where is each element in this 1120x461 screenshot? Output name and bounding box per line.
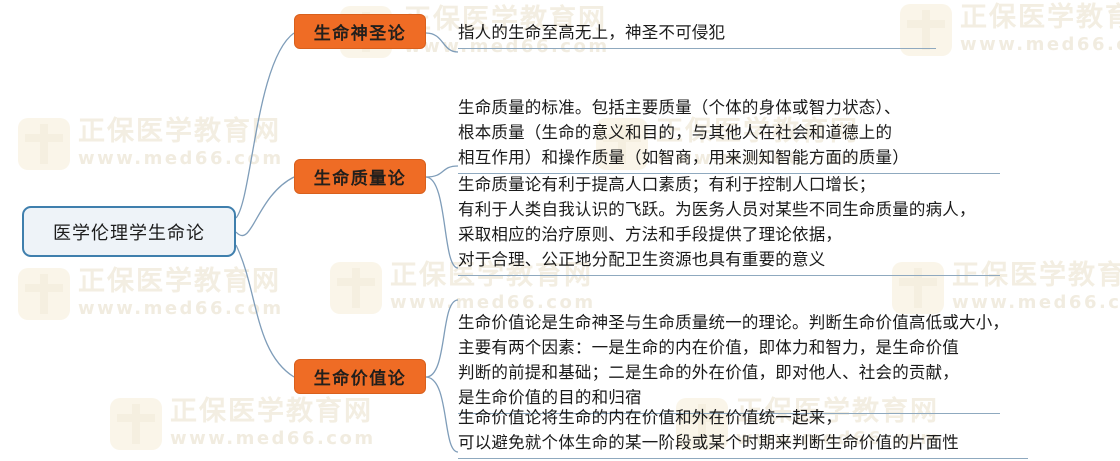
connector-branch-0-to-block-0 — [426, 33, 458, 52]
text-line: 判断的前提和基础；二是生命的外在价值，即对他人、社会的贡献， — [458, 360, 1000, 385]
branch-node-shengming-jiazhi[interactable]: 生命价值论 — [294, 359, 426, 394]
mindmap-canvas: 正保医学教育网 www.med66.com 正保医学教育网 www.med66.… — [0, 0, 1120, 461]
branch-node-label: 生命神圣论 — [314, 19, 407, 44]
watermark-url: www.med66.com — [170, 428, 376, 449]
text-line: 有利于人类自我认识的飞跃。为医务人员对某些不同生命质量的病人， — [458, 197, 1000, 222]
text-block-zhiliang-standard: 生命质量的标准。包括主要质量（个体的身体或智力状态）、 根本质量（生命的意义和目… — [458, 95, 1000, 174]
text-block-jiazhi-unity: 生命价值论将生命的内在价值和外在价值统一起来， 可以避免就个体生命的某一阶段或某… — [458, 405, 1028, 459]
watermark-logo-icon — [330, 262, 382, 314]
connector-root-to-branch-2 — [236, 245, 294, 377]
text-line: 采取相应的治疗原则、方法和手段提供了理论依据， — [458, 222, 1000, 247]
watermark-url: www.med66.com — [78, 148, 284, 169]
text-block-jiazhi-definition: 生命价值论是生命神圣与生命质量统一的理论。判断生命价值高低或大小， 主要有两个因… — [458, 310, 1000, 414]
connector-branch-2-to-block-3 — [426, 300, 458, 377]
watermark-logo-icon — [18, 268, 70, 320]
watermark-group: 正保医学教育网 www.med66.com — [78, 118, 284, 169]
text-line: 可以避免就个体生命的某一阶段或某个时期来判断生命价值的片面性 — [458, 430, 1028, 455]
text-line: 生命价值论将生命的内在价值和外在价值统一起来， — [458, 405, 1028, 430]
watermark-url: www.med66.com — [78, 298, 284, 319]
text-line: 主要有两个因素：一是生命的内在价值，即体力和智力，是生命价值 — [458, 335, 1000, 360]
branch-node-label: 生命质量论 — [314, 164, 407, 189]
watermark-group: 正保医学教育网 www.med66.com — [170, 398, 376, 449]
text-block-zhiliang-significance: 生命质量论有利于提高人口素质；有利于控制人口增长； 有利于人类自我认识的飞跃。为… — [458, 172, 1000, 276]
text-line: 生命价值论是生命神圣与生命质量统一的理论。判断生命价值高低或大小， — [458, 310, 1000, 335]
branch-node-shengming-zhiliang[interactable]: 生命质量论 — [294, 159, 426, 194]
text-line: 生命质量论有利于提高人口素质；有利于控制人口增长； — [458, 172, 1000, 197]
text-line: 根本质量（生命的意义和目的，与其他人在社会和道德上的 — [458, 120, 1000, 145]
text-line: 对于合理、公正地分配卫生资源也具有重要的意义 — [458, 247, 1000, 272]
watermark-logo-icon — [110, 398, 162, 450]
connector-branch-1-to-block-2 — [426, 177, 458, 268]
watermark-brand: 正保医学教育网 — [78, 268, 284, 296]
connector-root-to-branch-1 — [236, 177, 294, 236]
connector-root-to-branch-0 — [236, 33, 294, 218]
watermark-brand: 正保医学教育网 — [170, 398, 376, 426]
watermark-logo-icon — [18, 118, 70, 170]
root-node[interactable]: 医学伦理学生命论 — [22, 206, 236, 257]
branch-node-shengming-shensheng[interactable]: 生命神圣论 — [294, 14, 426, 49]
branch-node-label: 生命价值论 — [314, 364, 407, 389]
watermark-group: 正保医学教育网 www.med66.com — [78, 268, 284, 319]
text-block-shensheng-definition: 指人的生命至高无上，神圣不可侵犯 — [458, 20, 936, 49]
text-line: 生命质量的标准。包括主要质量（个体的身体或智力状态）、 — [458, 95, 1000, 120]
watermark-brand: 正保医学教育网 — [960, 4, 1120, 32]
text-line: 指人的生命至高无上，神圣不可侵犯 — [458, 20, 936, 45]
connector-branch-2-to-block-4 — [426, 377, 458, 452]
watermark-brand: 正保医学教育网 — [78, 118, 284, 146]
watermark-url: www.med66.com — [960, 34, 1120, 55]
watermark-group: 正保医学教育网 www.med66.com — [960, 4, 1120, 55]
text-line: 相互作用）和操作质量（如智商，用来测知智能方面的质量） — [458, 145, 1000, 170]
connector-branch-1-to-block-1 — [426, 166, 458, 177]
root-node-label: 医学伦理学生命论 — [53, 219, 205, 245]
